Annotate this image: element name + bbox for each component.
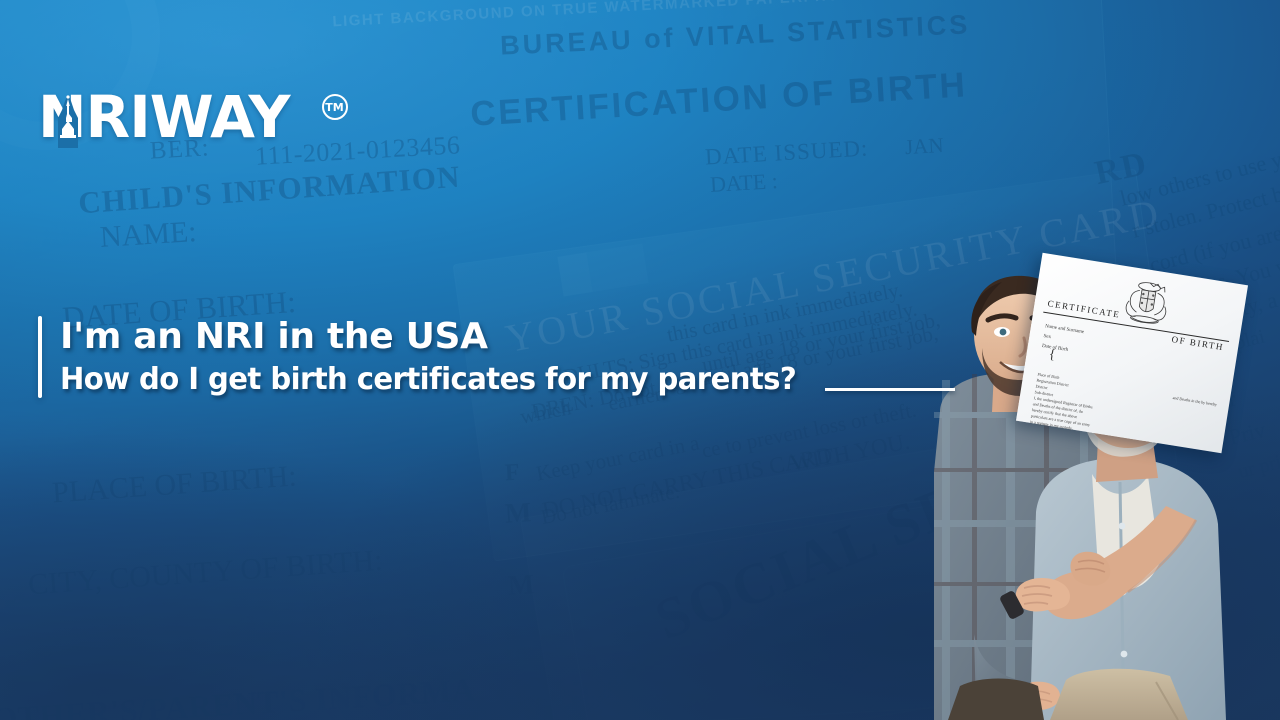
headline-lines: I'm an NRI in the USA How do I get birth… [60,316,955,398]
certificate-place-block: Place of Birth Registration District Dis… [1029,372,1099,435]
headline-line-2-wrap: How do I get birth certificates for my p… [60,362,955,398]
headline-line-1: I'm an NRI in the USA [60,316,955,358]
certificate-brace: { [1047,347,1056,364]
certificate-title-left: CERTIFICATE [1047,298,1121,319]
headline-block: I'm an NRI in the USA How do I get birth… [38,316,955,398]
hero-banner: LIGHT BACKGROUND ON TRUE WATERMARKED PAP… [0,0,1280,720]
brand-logo[interactable]: NRIWAY TM [38,88,348,146]
brand-logo-text: NRIWAY [38,88,290,146]
certificate-fields: Name and Surname Sex Date of Birth [1041,322,1144,367]
birth-certificate-document: CERTIFICATE OF BIRTH Name and Surname Se… [1016,253,1248,453]
trademark-icon: TM [322,94,348,120]
trademark-label: TM [325,102,343,113]
headline-line-2: How do I get birth certificates for my p… [60,362,796,398]
royal-coat-of-arms-icon [1117,274,1178,330]
certificate-right-note: and Deaths in the by hereby [1171,395,1217,409]
headline-blank-fill [825,388,955,391]
headline-accent-bar [38,316,42,398]
